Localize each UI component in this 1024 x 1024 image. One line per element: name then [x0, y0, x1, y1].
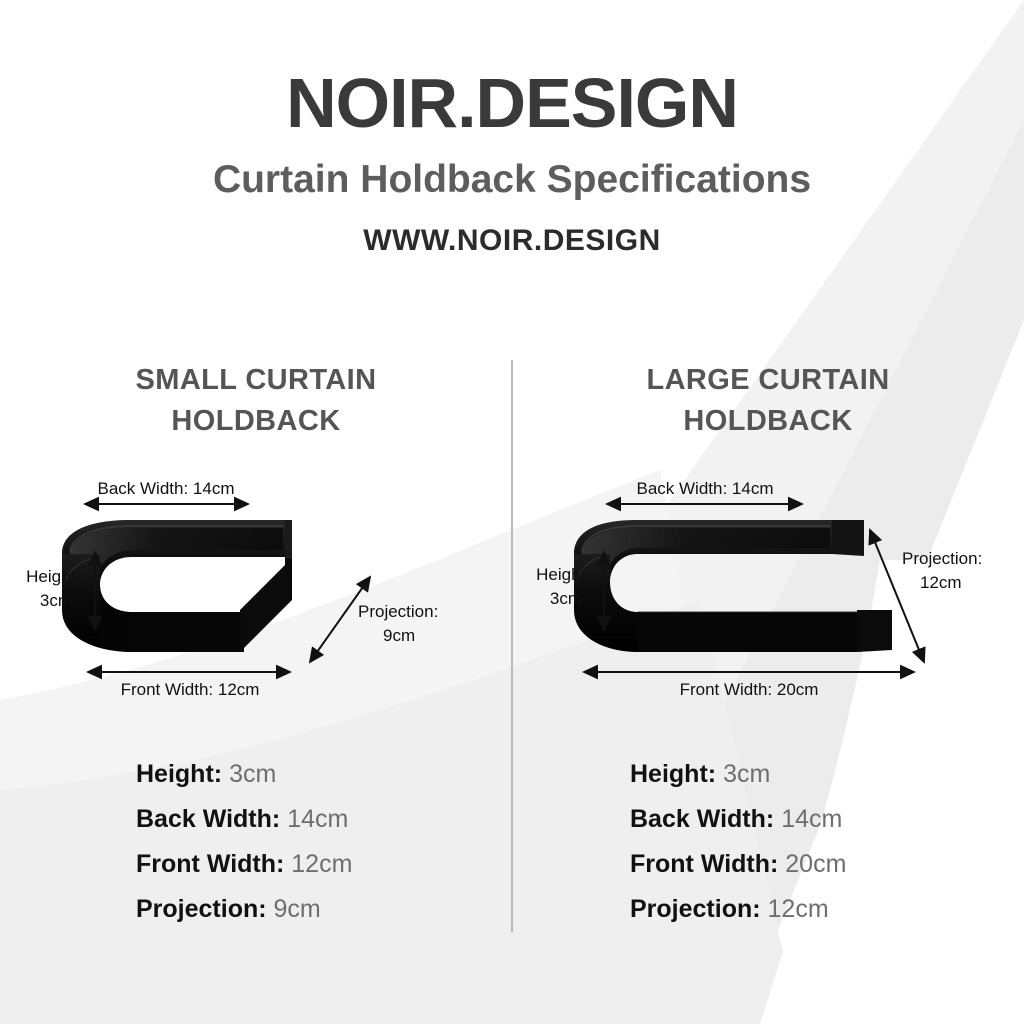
- projection-label-line1: Projection:: [358, 602, 438, 621]
- spec-value: 12cm: [291, 850, 352, 878]
- spec-label: Front Width:: [136, 850, 284, 878]
- spec-label: Back Width:: [630, 805, 774, 833]
- height-label-line1: Height:: [26, 567, 80, 586]
- product-shape-small: [62, 520, 292, 652]
- spec-value: 14cm: [781, 805, 842, 833]
- height-label-line2: 3cm: [550, 589, 582, 608]
- height-label-line2: 3cm: [40, 591, 72, 610]
- spec-value: 14cm: [287, 805, 348, 833]
- spec-value: 3cm: [723, 760, 770, 788]
- spec-value: 20cm: [785, 850, 846, 878]
- back-width-label: Back Width: 14cm: [98, 482, 235, 498]
- spec-sheet-page: NOIR.DESIGN Curtain Holdback Specificati…: [0, 0, 1024, 1024]
- projection-label-line2: 9cm: [383, 626, 415, 645]
- spec-label: Height:: [630, 760, 716, 788]
- spec-value: 3cm: [229, 760, 276, 788]
- brand-website-url: WWW.NOIR.DESIGN: [0, 199, 1024, 256]
- spec-list-large: Height: 3cm Back Width: 14cm Front Width…: [512, 752, 1024, 932]
- panel-small-heading: SMALL CURTAIN HOLDBACK: [0, 352, 512, 442]
- spec-item: Projection: 12cm: [630, 887, 1024, 932]
- spec-value: 9cm: [274, 895, 321, 923]
- spec-label: Back Width:: [136, 805, 280, 833]
- front-width-label: Front Width: 20cm: [680, 680, 819, 699]
- page-subtitle: Curtain Holdback Specifications: [0, 138, 1024, 199]
- projection-label-line2: 12cm: [920, 573, 962, 592]
- brand-title: NOIR.DESIGN: [0, 0, 1024, 138]
- page-header: NOIR.DESIGN Curtain Holdback Specificati…: [0, 0, 1024, 256]
- spec-item: Back Width: 14cm: [630, 797, 1024, 842]
- spec-label: Projection:: [136, 895, 267, 923]
- panel-large-heading-line2: HOLDBACK: [512, 401, 1024, 442]
- spec-label: Height:: [136, 760, 222, 788]
- panel-large-heading-line1: LARGE CURTAIN: [512, 360, 1024, 401]
- product-shape-large: [574, 520, 892, 652]
- back-width-label: Back Width: 14cm: [637, 482, 774, 498]
- panel-small-holdback: SMALL CURTAIN HOLDBACK: [0, 352, 512, 952]
- height-label-line1: Height:: [536, 565, 590, 584]
- projection-label-line1: Projection:: [902, 549, 982, 568]
- panel-large-holdback: LARGE CURTAIN HOLDBACK: [512, 352, 1024, 952]
- panel-large-heading: LARGE CURTAIN HOLDBACK: [512, 352, 1024, 442]
- spec-label: Front Width:: [630, 850, 778, 878]
- diagram-large-holdback: Back Width: 14cm Height: 3cm Front Width…: [512, 482, 1024, 702]
- spec-value: 12cm: [768, 895, 829, 923]
- diagram-small-holdback: Back Width: 14cm Height: 3cm Front Width…: [0, 482, 512, 702]
- spec-item: Front Width: 20cm: [630, 842, 1024, 887]
- panel-divider: [511, 360, 513, 932]
- spec-label: Projection:: [630, 895, 761, 923]
- panel-small-heading-line2: HOLDBACK: [0, 401, 512, 442]
- spec-item: Height: 3cm: [630, 752, 1024, 797]
- front-width-label: Front Width: 12cm: [121, 680, 260, 699]
- panel-small-heading-line1: SMALL CURTAIN: [0, 360, 512, 401]
